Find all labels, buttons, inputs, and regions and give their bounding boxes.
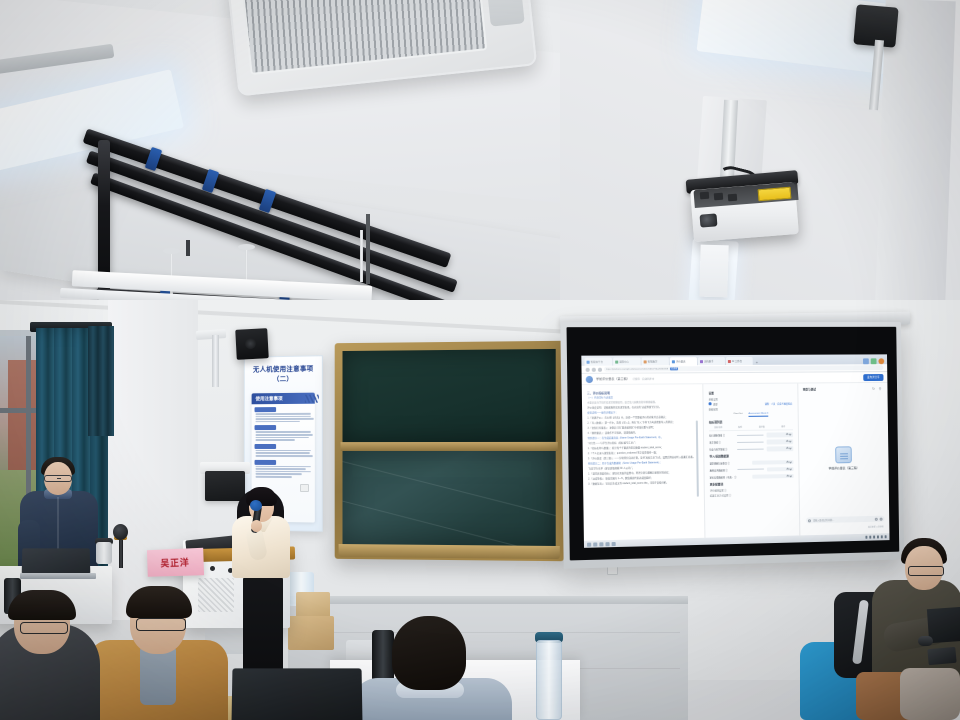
glasses-icon — [908, 566, 944, 576]
poster-text-line — [256, 421, 300, 423]
blackboard — [335, 341, 564, 561]
send-icon[interactable] — [879, 517, 882, 520]
browser-tab[interactable]: 智慧教学 — [642, 357, 669, 365]
grey-bag — [900, 668, 960, 720]
settings-form-pane[interactable]: 设置 基础设置 类型 课程 · 人员 · 自定义维度组合 数据配置 Chart … — [703, 384, 800, 538]
tray-icon[interactable] — [869, 536, 871, 539]
doc-paragraph: 使用说明——操作步骤如下： — [587, 411, 699, 416]
projection-screen-surface: 智能体平台 课程中心 智慧教学 评价量表 — [567, 327, 900, 561]
poster-title: 无人机使用注意事项 （二） — [249, 364, 318, 385]
tray-icon[interactable] — [884, 536, 886, 539]
refresh-icon[interactable]: ↻ — [872, 387, 876, 391]
poster-section-heading — [255, 444, 277, 449]
laptop-keyboard-base[interactable] — [20, 573, 96, 579]
stepper-down-icon[interactable] — [789, 467, 792, 470]
preview-toolbar[interactable]: ↻ ⚲ — [872, 387, 883, 391]
document-title: 学前评价量表（第三稿） — [596, 377, 630, 381]
taskbar-app-icon[interactable] — [599, 542, 603, 546]
start-menu-icon[interactable] — [587, 542, 591, 546]
glasses-icon — [44, 475, 72, 482]
taskbar-app-icon[interactable] — [612, 541, 616, 545]
classroom-photo-scene: 无人机使用注意事项 （二） 使用注意事项 — [0, 0, 960, 720]
app-body: 三、评价指标说明 （一）内容目标与达成度 本量表面向学前阶段课堂观察使用，结合幼… — [582, 383, 890, 541]
poster-decoration-icon — [305, 395, 319, 403]
doc-paragraph: 4.「删除量表」：该操作不可恢复，请谨慎操作。 — [588, 431, 700, 436]
preview-search-input[interactable]: 请输入要调试的问题… — [806, 516, 885, 524]
table-row[interactable]: 教师自评数据项 ⓘ — [710, 467, 794, 473]
smartphone[interactable] — [927, 647, 956, 665]
table-row[interactable]: 语言领域 ⓘ — [709, 439, 793, 445]
back-arrow-icon[interactable] — [586, 367, 590, 371]
form-title: 设置 — [708, 390, 792, 395]
form-section-more: 更多配置项 — [710, 480, 794, 486]
doc-paragraph: 3.「数据导出」：导出后生成文件 student_total_score.xls… — [588, 482, 700, 488]
stepper-down-icon[interactable] — [789, 433, 792, 436]
taskbar-app-icon[interactable] — [593, 542, 597, 546]
form-radio-value: 课程 · 人员 · 自定义维度组合 — [765, 401, 793, 405]
url-text: https://platform.example.edu/assess/rubr… — [606, 368, 668, 370]
form-section-import: 导入/追加数据源 — [709, 453, 793, 458]
form-section-basic: 基础设置 — [709, 396, 793, 401]
search-icon[interactable]: ⚲ — [879, 387, 883, 391]
url-input[interactable]: https://platform.example.edu/assess/rubr… — [604, 365, 883, 372]
doc-paragraph: 2.「导入数据」：第一栏中，选择【导入】，再在“导入”字样下方勾选需要导入的条目… — [587, 421, 699, 426]
doc-paragraph: （一）内容目标与达成度 — [587, 396, 699, 401]
ceiling-suspension-rod — [186, 240, 190, 256]
laptop-screen[interactable] — [22, 548, 91, 573]
projected-image: 智能体平台 课程中心 智慧教学 评价量表 — [581, 354, 889, 548]
poster-text-line — [256, 434, 313, 436]
preview-file-card[interactable]: 学前评价量表（第三稿） — [799, 446, 889, 471]
table-header-row: 指标名称 权重 满分值 操作 — [709, 425, 793, 431]
browser-window-controls[interactable] — [863, 358, 887, 364]
system-tray[interactable] — [865, 536, 887, 539]
row-stepper-input[interactable] — [767, 467, 793, 472]
favicon-icon — [615, 360, 618, 363]
tumbler-cup — [96, 542, 112, 564]
projection-screen: 智能体平台 课程中心 智慧教学 评价量表 — [560, 322, 904, 569]
row-label: 语言领域 ⓘ — [709, 440, 734, 444]
app-logo-icon — [586, 375, 593, 382]
tray-icon[interactable] — [876, 536, 878, 539]
browser-tab-label: 课程中心 — [619, 359, 629, 363]
search-icon — [808, 519, 811, 522]
close-icon[interactable] — [878, 358, 884, 364]
poster-text-line — [256, 437, 309, 439]
browser-tab[interactable]: 课程中心 — [613, 357, 641, 365]
stepper-down-icon[interactable] — [789, 447, 792, 450]
cardboard-box — [288, 616, 334, 650]
floor-tile-line — [300, 632, 680, 633]
row-stepper-input[interactable] — [767, 432, 793, 437]
poster-title-line1: 无人机使用注意事项 — [249, 364, 318, 375]
reload-icon[interactable] — [598, 367, 602, 371]
ceiling-suspension-rod — [366, 214, 370, 284]
poster-text-line — [256, 468, 307, 470]
restore-icon[interactable] — [871, 358, 877, 364]
preview-search-placeholder: 请输入要调试的问题… — [813, 518, 834, 522]
blackboard-divider-rail — [341, 442, 558, 451]
poster-text-line — [256, 476, 292, 478]
browser-tab[interactable]: AI 工作台 — [726, 357, 753, 365]
row-label: 家长反馈数据项（可选） ⓘ — [710, 475, 750, 480]
table-col-header: 满分值 — [752, 425, 771, 428]
ceiling-rod-cap — [163, 248, 180, 254]
attach-icon[interactable] — [874, 517, 877, 520]
table-row[interactable]: 社会与科学领域 ⓘ — [709, 446, 793, 452]
chalk-smudge — [352, 461, 531, 477]
browser-tab-label: AI 工作台 — [732, 359, 742, 363]
poster-title-line2: （二） — [249, 374, 318, 385]
stepper-down-icon[interactable] — [789, 474, 792, 477]
projector-port — [728, 194, 737, 202]
poster-text-line — [256, 450, 311, 452]
radio-icon[interactable] — [709, 402, 712, 405]
doc-paragraph: 3.「复制已有量表」：复制后可在“量表编辑区”中修改权重与说明； — [587, 426, 699, 431]
form-radio-row[interactable]: 类型 课程 · 人员 · 自定义维度组合 — [709, 401, 793, 406]
browser-tab[interactable]: 文档助手 — [698, 357, 725, 365]
row-value-bar — [737, 441, 764, 443]
form-tab[interactable]: Chart Set — [733, 413, 742, 417]
browser-tab-label: 评价量表 — [676, 359, 686, 363]
poster-text-line — [256, 418, 314, 420]
row-value-bar — [737, 469, 764, 471]
presenter-hand — [251, 520, 262, 532]
form-section-data: 数据配置 — [709, 406, 793, 411]
water-bottle — [536, 640, 562, 720]
poster-text-line — [256, 452, 310, 454]
poster-text-line — [256, 473, 303, 475]
blackboard-upper-panel — [343, 349, 556, 442]
doc-paragraph: 评价维度说明：请根据教师实际课堂表现，在对应的“达成等级”栏打分。 — [587, 406, 699, 411]
row-stepper-input[interactable] — [767, 446, 793, 451]
row-value-bar — [737, 434, 764, 436]
poster-text-line — [256, 465, 311, 467]
table-row[interactable]: 课堂观察记录条目 ⓘ — [709, 460, 793, 466]
row-label: 幼儿健康领域 ⓘ — [709, 433, 734, 437]
window-curtain — [88, 326, 114, 436]
poster-section-heading — [255, 459, 277, 464]
presenter-legs — [243, 574, 283, 679]
poster-text-line — [256, 413, 311, 415]
browser-tab-active[interactable]: 评价量表 — [670, 357, 697, 365]
favicon-icon — [587, 360, 590, 363]
browser-tab-label: 智慧教学 — [648, 359, 658, 363]
stepper-down-icon[interactable] — [789, 440, 792, 443]
doc-heading: 三、评价指标说明 — [587, 390, 699, 395]
chalk-tray — [339, 544, 560, 559]
form-more-item[interactable]: 结果汇总方式设置 ⓘ — [710, 492, 794, 498]
document-pane[interactable]: 三、评价指标说明 （一）内容目标与达成度 本量表面向学前阶段课堂观察使用，结合幼… — [582, 384, 706, 540]
podium-control-button[interactable] — [210, 566, 215, 571]
table-col-header: 权重 — [731, 425, 750, 428]
wall-duct — [874, 0, 955, 331]
browser-tab-label: 文档助手 — [704, 359, 714, 363]
doc-paragraph: 本量表面向学前阶段课堂观察使用，结合幼儿园教育指导纲要编制。 — [587, 401, 699, 406]
stepper-down-icon[interactable] — [789, 460, 792, 463]
computer-mouse[interactable] — [918, 636, 933, 646]
cardboard-box — [296, 592, 330, 618]
tray-icon[interactable] — [880, 536, 882, 539]
glasses-icon — [136, 618, 186, 631]
form-tab-selected[interactable]: Assessment Sheet 3 — [748, 413, 768, 417]
poster-text-line — [256, 439, 295, 441]
wall-control-panel[interactable] — [205, 471, 245, 501]
favicon-icon — [672, 360, 675, 363]
attendee-shirt — [140, 645, 176, 705]
poster-text-line — [256, 415, 312, 417]
row-value-bar — [737, 448, 764, 450]
air-conditioner-vane — [484, 0, 524, 27]
attendee-left-hair — [8, 590, 76, 620]
publish-share-button[interactable]: 发布并分享 — [863, 374, 883, 381]
favicon-icon — [644, 360, 647, 363]
podium-speaker-grille-icon — [198, 578, 234, 612]
wall-mount-arm — [212, 335, 219, 387]
laptop-screen[interactable] — [232, 668, 363, 720]
preview-footer-status: 最近更新 3 分钟前 — [868, 526, 884, 529]
browser-tab-label: 智能体平台 — [591, 360, 603, 364]
table-row[interactable]: 幼儿健康领域 ⓘ — [709, 432, 793, 438]
laser-warning-label-icon — [758, 187, 792, 202]
browser-tab[interactable]: 智能体平台 — [584, 358, 612, 366]
projector-port — [714, 193, 723, 201]
row-stepper-input[interactable] — [767, 439, 793, 444]
ceiling-rod-cap — [238, 244, 255, 250]
favicon-icon — [700, 360, 703, 363]
attendee-tan-hair — [126, 586, 192, 618]
ceiling-suspension-rod — [360, 230, 363, 282]
browser-window[interactable]: 智能体平台 课程中心 智慧教学 评价量表 — [581, 354, 889, 548]
table-col-header: 指标名称 — [709, 426, 728, 429]
projector-lens-icon — [700, 213, 718, 227]
document-subtitle: 已保存 · 自动同步中 — [633, 377, 655, 381]
row-label: 教师自评数据项 ⓘ — [710, 468, 735, 472]
name-card-text: 吴正洋 — [160, 555, 190, 569]
name-card: 吴正洋 — [147, 548, 204, 577]
table-row[interactable]: 家长反馈数据项（可选） ⓘ — [710, 473, 794, 479]
blackboard-lower-panel — [343, 451, 556, 547]
forward-arrow-icon[interactable] — [592, 367, 596, 371]
row-label: 课堂观察记录条目 ⓘ — [709, 461, 749, 466]
poster-text-line — [256, 455, 314, 457]
form-section-list: 指标项列表 — [709, 419, 793, 424]
doc-paragraph: 1.「新建评价」：在左侧【内容】中，选择一个需要被评价的对象并点击确认； — [587, 416, 699, 421]
tray-icon[interactable] — [865, 536, 867, 539]
form-tab-group[interactable]: Chart Set Assessment Sheet 3 — [709, 412, 793, 417]
glasses-icon — [20, 622, 68, 634]
row-label: 社会与科学领域 ⓘ — [709, 447, 734, 451]
row-stepper-input[interactable] — [752, 460, 793, 465]
tray-icon[interactable] — [873, 536, 875, 539]
table-col-header: 操作 — [774, 425, 793, 428]
projector-hanging-strip — [699, 245, 728, 298]
wall-power-socket — [300, 484, 309, 492]
attendee-back-head — [392, 616, 466, 690]
row-stepper-input[interactable] — [752, 473, 793, 478]
favicon-icon — [728, 360, 731, 363]
poster-section-heading — [255, 425, 277, 430]
wall-speaker — [235, 328, 269, 360]
document-file-icon[interactable] — [835, 447, 852, 464]
projector-port — [700, 192, 709, 200]
speaker-cone-icon — [245, 338, 257, 350]
microphone-head-icon — [113, 524, 128, 540]
form-radio-label: 类型 — [713, 402, 717, 406]
poster-text-line — [256, 431, 311, 433]
wall-baseboard — [288, 596, 688, 604]
air-conditioner-grille-icon — [242, 0, 487, 75]
url-badge: 已连接 — [670, 367, 678, 370]
thermos-flask — [372, 630, 394, 682]
preview-pane[interactable]: 预览与调试 ↻ ⚲ 学前评价量表（第三稿） 请输入要调 — [798, 383, 890, 536]
minimize-icon[interactable] — [863, 358, 869, 364]
new-tab-button[interactable]: + — [754, 360, 760, 365]
poster-section-heading — [255, 407, 277, 412]
taskbar-app-icon[interactable] — [605, 542, 609, 546]
preview-file-caption: 学前评价量表（第三稿） — [799, 466, 889, 471]
